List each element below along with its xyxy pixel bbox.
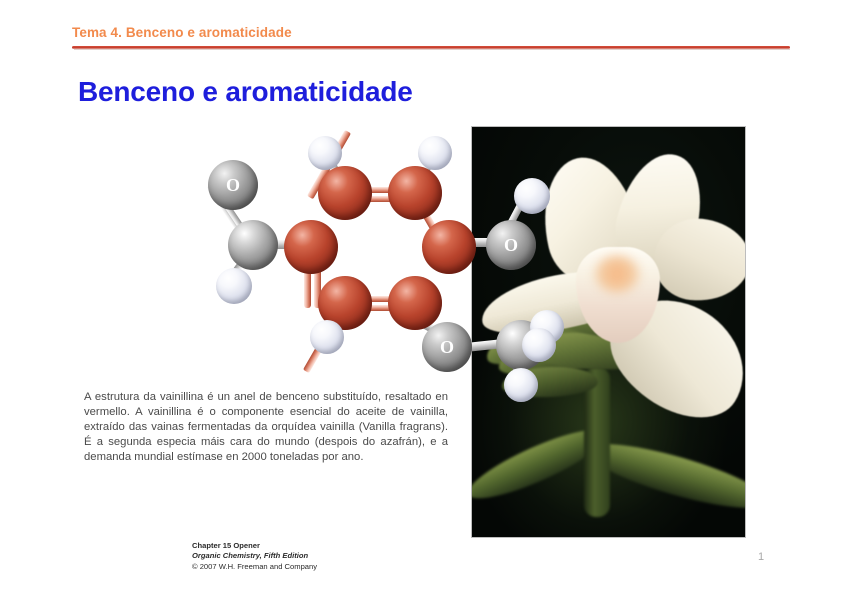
ring-carbon-bottom-right xyxy=(388,276,442,330)
page-title: Benceno e aromaticidade xyxy=(78,76,413,108)
source-credit: Chapter 15 Opener Organic Chemistry, Fif… xyxy=(192,541,317,572)
methoxy-hydrogen-2 xyxy=(522,328,556,362)
description-paragraph: A estrutura da vainillina é un anel de b… xyxy=(84,390,448,465)
ring-carbon-top-right xyxy=(388,166,442,220)
ring-carbon-left xyxy=(284,220,338,274)
ring-hydrogen-bottom xyxy=(310,320,344,354)
ring-carbon-top-left xyxy=(318,166,372,220)
credit-line-book: Organic Chemistry, Fifth Edition xyxy=(192,551,317,561)
aldehyde-carbon xyxy=(228,220,278,270)
header-divider-shadow xyxy=(74,49,790,50)
header-topic-label: Tema 4. Benceno e aromaticidade xyxy=(72,25,292,40)
flower-throat-glow xyxy=(594,255,640,293)
methoxy-hydrogen-3 xyxy=(504,368,538,402)
ring-hydrogen-top-right xyxy=(418,136,452,170)
aldehyde-oxygen xyxy=(208,160,258,210)
page-number: 1 xyxy=(758,551,764,563)
vanillin-ball-and-stick-model: O O O xyxy=(200,128,550,388)
aldehyde-hydrogen xyxy=(216,268,252,304)
description-paragraph-text: A estrutura da vainillina é un anel de b… xyxy=(84,390,448,465)
methoxy-oxygen xyxy=(422,322,472,372)
hydroxyl-hydrogen xyxy=(514,178,550,214)
slide-canvas: Tema 4. Benceno e aromaticidade Benceno … xyxy=(0,0,848,599)
ring-carbon-right xyxy=(422,220,476,274)
ring-hydrogen-top-left xyxy=(308,136,342,170)
credit-line-chapter: Chapter 15 Opener xyxy=(192,541,317,551)
credit-line-copyright: © 2007 W.H. Freeman and Company xyxy=(192,562,317,572)
hydroxyl-oxygen xyxy=(486,220,536,270)
